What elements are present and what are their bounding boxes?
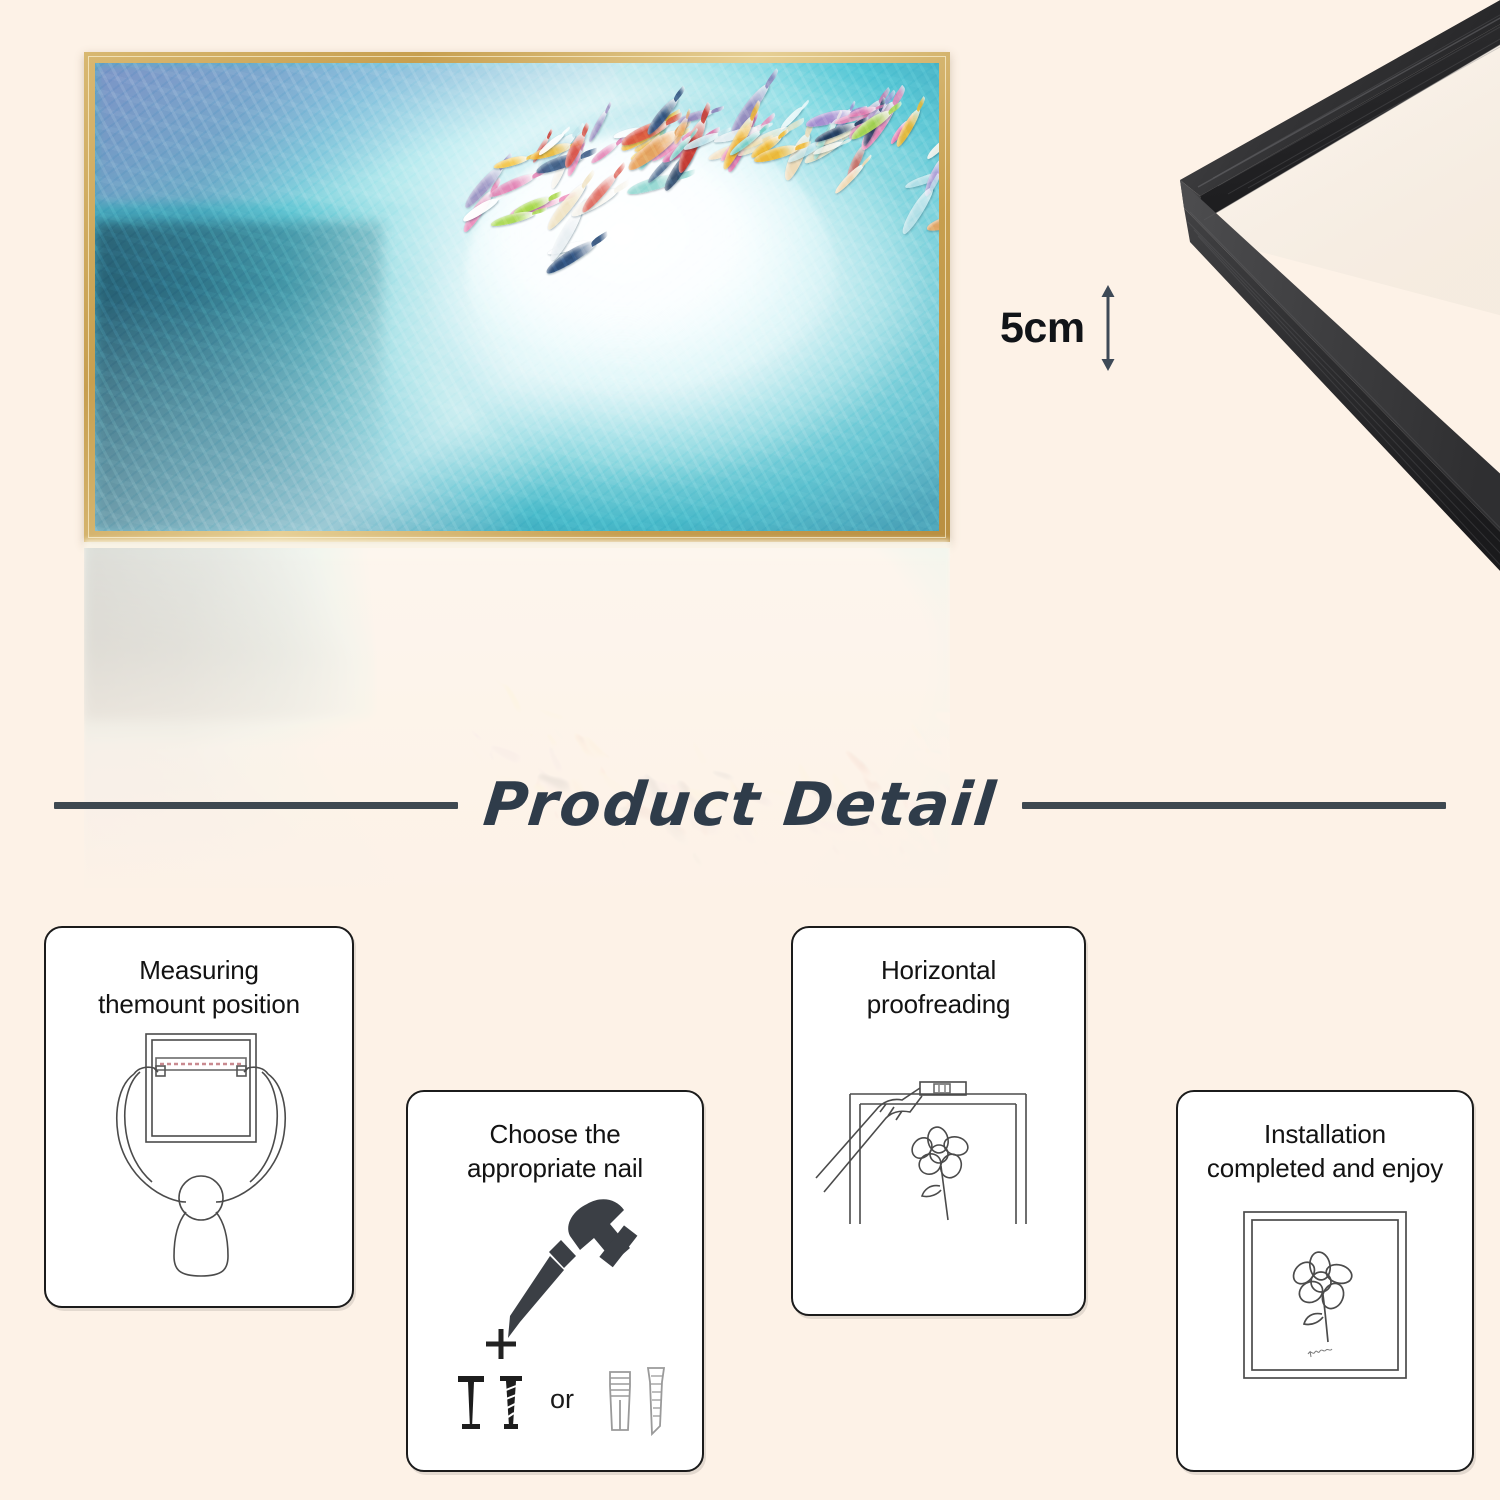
nail-icon — [458, 1376, 484, 1429]
light-screw-icon — [648, 1368, 664, 1434]
hammer-icon — [508, 1199, 637, 1338]
framed-artwork — [84, 52, 950, 542]
product-listing-image: 5cm Product Detail Measuring themount po… — [0, 0, 1500, 1500]
card-title: Installation completed and enjoy — [1178, 1092, 1472, 1186]
card-title: Choose the appropriate nail — [408, 1092, 702, 1186]
plus-icon — [486, 1329, 516, 1359]
wall-anchor-icon — [610, 1372, 630, 1430]
screw-icon — [500, 1376, 522, 1429]
double-arrow-icon — [1099, 285, 1117, 371]
measuring-mount-position-diagram — [46, 1022, 352, 1284]
divider-right — [1022, 802, 1446, 809]
instruction-card-measuring[interactable]: Measuring themount position — [44, 926, 354, 1308]
instruction-card-installation-complete[interactable]: Installation completed and enjoy — [1176, 1090, 1474, 1472]
spirit-level-on-frame-diagram — [793, 1022, 1084, 1250]
or-label: or — [550, 1384, 574, 1414]
card-title: Horizontal proofreading — [793, 928, 1084, 1022]
section-heading: Product Detail — [0, 762, 1500, 848]
hung-framed-picture-diagram — [1178, 1186, 1472, 1390]
black-frame-corner-photo — [1118, 0, 1500, 590]
hammer-nail-screw-anchor-diagram: or — [408, 1186, 702, 1436]
page-title: Product Detail — [480, 770, 1000, 840]
signature-scribble — [1308, 1349, 1332, 1357]
divider-left — [54, 802, 458, 809]
dimension-label: 5cm — [1000, 307, 1085, 350]
instruction-card-choose-nail[interactable]: Choose the appropriate nail — [406, 1090, 704, 1472]
instruction-card-horizontal-proofreading[interactable]: Horizontal proofreading — [791, 926, 1086, 1316]
frame-depth-dimension: 5cm — [1000, 285, 1117, 371]
painting-canvas — [95, 63, 939, 531]
card-title: Measuring themount position — [46, 928, 352, 1022]
impasto-texture — [95, 63, 939, 531]
